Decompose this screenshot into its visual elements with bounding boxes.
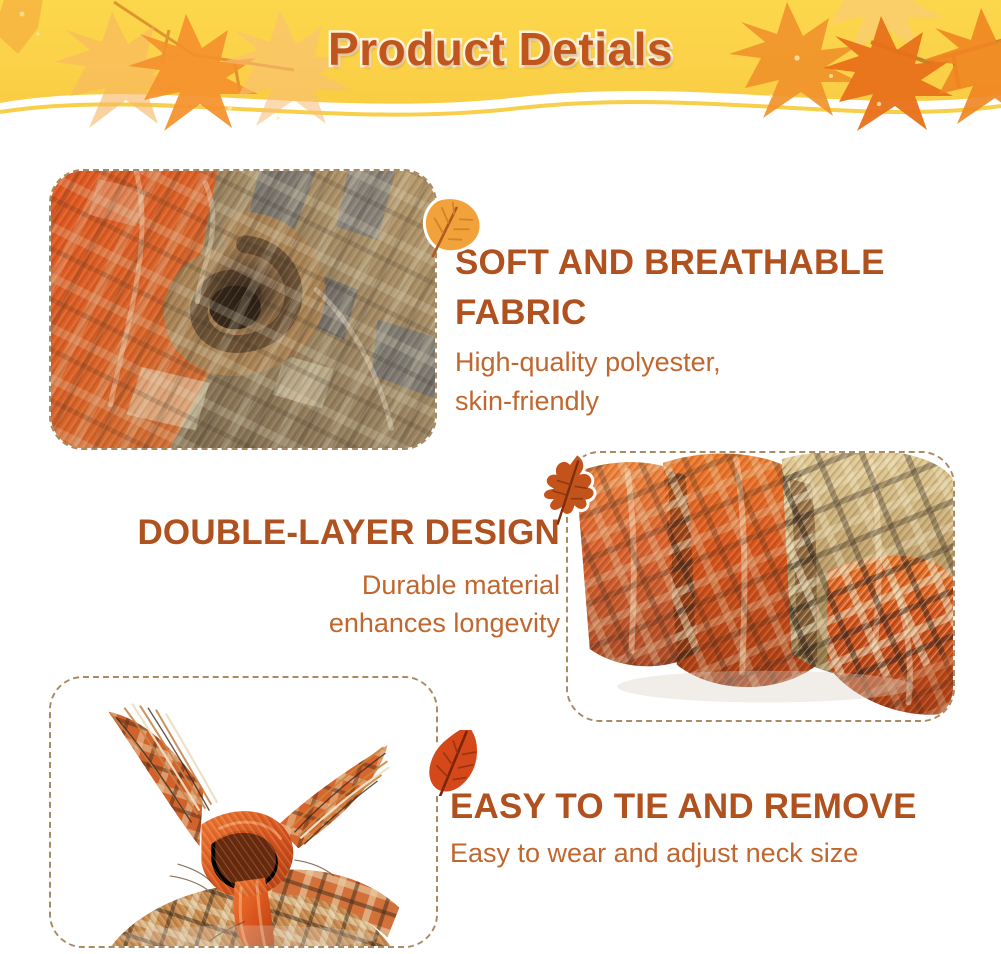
feature-description-line: Easy to wear and adjust neck size — [450, 834, 995, 872]
feature-heading-soft-fabric: SOFT AND BREATHABLE FABRIC — [455, 238, 955, 337]
feature-description-line: skin-friendly — [455, 382, 975, 420]
maple-leaf-icon — [420, 730, 494, 796]
oak-leaf-icon — [532, 455, 606, 525]
feature-description-line: Durable material — [40, 566, 560, 604]
photo-fabric-swirl — [49, 169, 437, 450]
feature-heading-double-layer: DOUBLE-LAYER DESIGN — [40, 508, 560, 558]
photo-knotted-scarf — [49, 676, 438, 948]
birch-leaf-icon — [415, 192, 487, 258]
feature-text-easy-tie: EASY TO TIE AND REMOVE Easy to wear and … — [450, 782, 995, 872]
page-title: Product Detials — [0, 22, 1001, 76]
feature-text-double-layer: DOUBLE-LAYER DESIGN Durable material enh… — [40, 508, 560, 642]
header-banner: Product Detials — [0, 0, 1001, 131]
feature-description-soft-fabric: High-quality polyester, skin-friendly — [455, 343, 975, 420]
feature-description-double-layer: Durable material enhances longevity — [40, 566, 560, 643]
feature-description-easy-tie: Easy to wear and adjust neck size — [450, 834, 995, 872]
photo-folded-layers — [566, 451, 955, 722]
feature-text-soft-fabric: SOFT AND BREATHABLE FABRIC High-quality … — [455, 238, 975, 420]
feature-description-line: enhances longevity — [40, 604, 560, 642]
feature-heading-easy-tie: EASY TO TIE AND REMOVE — [450, 782, 995, 832]
feature-description-line: High-quality polyester, — [455, 343, 975, 381]
